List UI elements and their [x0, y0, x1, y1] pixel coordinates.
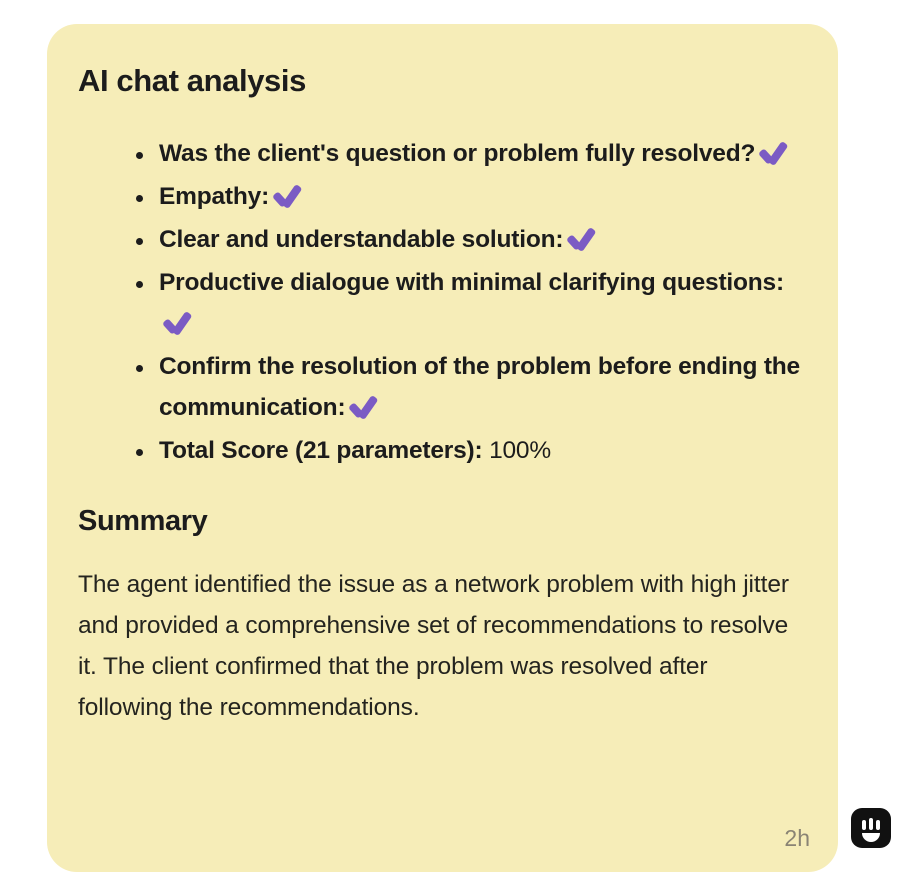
criteria-label: Total Score (21 parameters):	[159, 437, 482, 464]
bullet-icon	[136, 133, 145, 174]
chat-message-page: AI chat analysis Was the client's questi…	[0, 0, 907, 880]
criteria-label: Productive dialogue with minimal clarify…	[159, 269, 784, 296]
criteria-label: Confirm the resolution of the problem be…	[159, 353, 800, 421]
list-item: Empathy:	[78, 176, 806, 217]
criteria-list: Was the client's question or problem ful…	[78, 133, 806, 471]
summary-heading: Summary	[78, 504, 806, 539]
total-score-value: 100%	[489, 437, 551, 464]
bullet-icon	[136, 262, 145, 303]
list-item: Confirm the resolution of the problem be…	[78, 346, 806, 428]
list-item: Clear and understandable solution:	[78, 219, 806, 260]
avatar-face	[851, 808, 891, 848]
bullet-icon	[136, 346, 145, 387]
page-title: AI chat analysis	[78, 62, 806, 99]
bullet-icon	[136, 176, 145, 217]
check-icon	[759, 142, 787, 164]
avatar-smile	[862, 833, 880, 842]
avatar-bar-middle	[869, 818, 873, 830]
criteria-label: Was the client's question or problem ful…	[159, 140, 755, 167]
message-timestamp: 2h	[784, 825, 810, 852]
avatar-bar-left	[862, 820, 866, 830]
check-icon	[273, 185, 301, 207]
check-icon	[567, 228, 595, 250]
bullet-icon	[136, 430, 145, 471]
ai-chat-analysis-message-card: AI chat analysis Was the client's questi…	[47, 24, 838, 872]
check-icon	[163, 312, 191, 334]
bullet-icon	[136, 219, 145, 260]
intercom-face-icon[interactable]	[851, 808, 891, 848]
list-item: Total Score (21 parameters): 100%	[78, 430, 806, 471]
criteria-label: Empathy:	[159, 183, 269, 210]
list-item: Productive dialogue with minimal clarify…	[78, 262, 806, 344]
summary-text: The agent identified the issue as a netw…	[78, 564, 794, 728]
avatar-bar-right	[876, 820, 880, 830]
check-icon	[349, 396, 377, 418]
list-item: Was the client's question or problem ful…	[78, 133, 806, 174]
criteria-label: Clear and understandable solution:	[159, 226, 563, 253]
